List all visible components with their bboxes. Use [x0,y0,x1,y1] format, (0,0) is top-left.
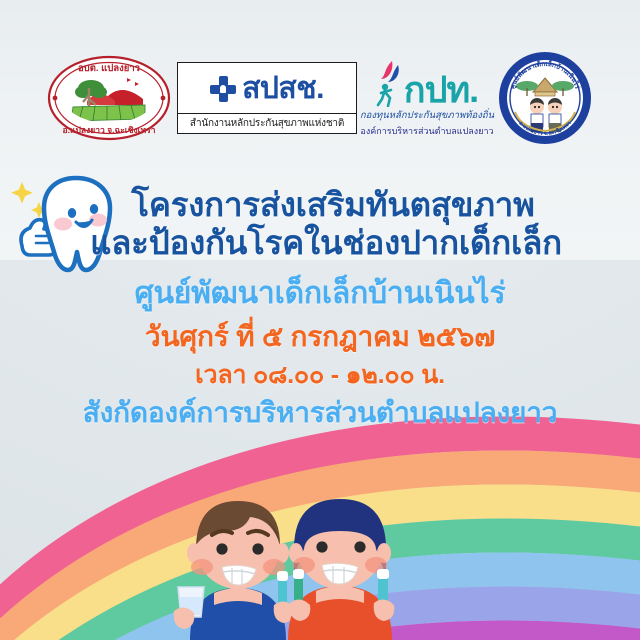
kids-illustration [170,475,500,640]
nhso-subtitle: สำนักงานหลักประกันสุขภาพแห่งชาติ [178,113,356,133]
boy-character [174,501,295,640]
seal-top-text: อบต. แปลงยาว [78,62,140,74]
poster-canvas: อบต. แปลงยาว อ.แปลงยาว จ.ฉะเชิงเทรา สปสช… [0,0,640,640]
logo-obt-plaengyao-seal: อบต. แปลงยาว อ.แปลงยาว จ.ฉะเชิงเทรา [47,55,171,141]
title-line-1: โครงการส่งเสริมทันตสุขภาพ [26,186,640,224]
headline-block: โครงการส่งเสริมทันตสุขภาพ และป้องกันโรคใ… [0,186,640,429]
affiliation-line: สังกัดองค์การบริหารส่วนตำบลแปลงยาว [0,397,640,429]
kpt-subtitle: กองทุนหลักประกันสุขภาพท้องถิ่น [360,108,494,123]
seal-bottom-text: อ.แปลงยาว จ.ฉะเชิงเทรา [63,125,156,135]
logo-nhso: สปสช. สำนักงานหลักประกันสุขภาพแห่งชาติ [177,62,357,134]
toothpaste-girl-right [374,569,395,621]
circular-seal-icon: ศูนย์พัฒนาเด็กเล็กบ้านเนินไร่ อ.แปลงยาว … [497,50,593,146]
oval-seal-icon: อบต. แปลงยาว อ.แปลงยาว จ.ฉะเชิงเทรา [47,55,171,141]
girl-character [288,499,394,640]
kpt-acronym: กปท. [404,73,478,107]
time-line: เวลา ๐๘.๐๐ - ๑๒.๐๐ น. [0,361,640,390]
venue-line: ศูนย์พัฒนาเด็กเล็กบ้านเนินไร่ [0,277,640,312]
date-line: วันศุกร์ ที่ ๕ กรกฎาคม ๒๕๖๗ [0,321,640,353]
toothbrush-boy [274,571,295,623]
logo-child-center-seal: ศูนย์พัฒนาเด็กเล็กบ้านเนินไร่ อ.แปลงยาว … [497,50,593,146]
kpt-subtitle-2: องค์การบริหารส่วนตำบลแปลงยาว [360,124,493,138]
nhso-acronym: สปสช. [242,74,324,104]
logo-kpt: กปท. กองทุนหลักประกันสุขภาพท้องถิ่น องค์… [363,55,491,141]
logo-row: อบต. แปลงยาว อ.แปลงยาว จ.ฉะเชิงเทรา สปสช… [0,44,640,152]
flame-runner-icon [376,59,402,107]
blue-cross-icon [210,76,236,102]
title-line-2: และป้องกันโรคในช่องปากเด็กเล็ก [12,224,640,262]
